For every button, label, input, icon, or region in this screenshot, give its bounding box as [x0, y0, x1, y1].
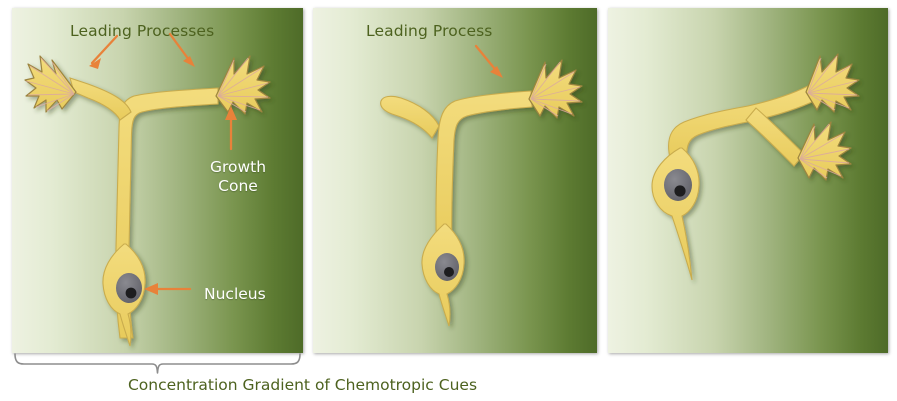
- arrow-icon-growth-cone: [225, 106, 237, 149]
- arrow-icon-nucleus: [144, 283, 190, 295]
- growth-cone-right: [216, 56, 270, 114]
- annotation-arrows: [476, 46, 503, 78]
- panel-2-title: Leading Process: [366, 22, 492, 40]
- panel-1: Leading Processes Growth Cone Nucleus: [12, 8, 303, 353]
- growth-cone-right: [529, 60, 582, 118]
- growth-cone-lower: [798, 122, 851, 180]
- panel-2-illustration: [313, 8, 597, 353]
- nucleus: [435, 253, 459, 281]
- arrow-icon-left-process: [89, 36, 117, 69]
- neuron-shape: [652, 54, 859, 280]
- panel-3: [608, 8, 888, 353]
- growth-cone-upper: [806, 54, 859, 112]
- growth-cone-label: Growth Cone: [195, 158, 281, 196]
- retracted-branch: [381, 96, 439, 138]
- figure-caption: Concentration Gradient of Chemotropic Cu…: [0, 376, 605, 394]
- arrow-icon-leading-process: [476, 46, 503, 78]
- nucleolus: [674, 185, 685, 196]
- soma: [652, 148, 699, 280]
- growth-cone-left: [25, 56, 76, 112]
- neuron-migration-figure: Leading Processes Growth Cone Nucleus: [0, 0, 897, 401]
- nucleolus: [444, 267, 454, 277]
- branch-lower: [746, 108, 804, 166]
- panel-3-illustration: [608, 8, 888, 353]
- leading-process-left: [70, 78, 131, 120]
- panel-1-title: Leading Processes: [70, 22, 214, 40]
- gradient-brace: [12, 352, 303, 374]
- nucleolus: [126, 288, 137, 299]
- nucleus-label: Nucleus: [204, 285, 266, 304]
- neuron-shape: [381, 60, 582, 326]
- panel-2: Leading Process: [313, 8, 597, 353]
